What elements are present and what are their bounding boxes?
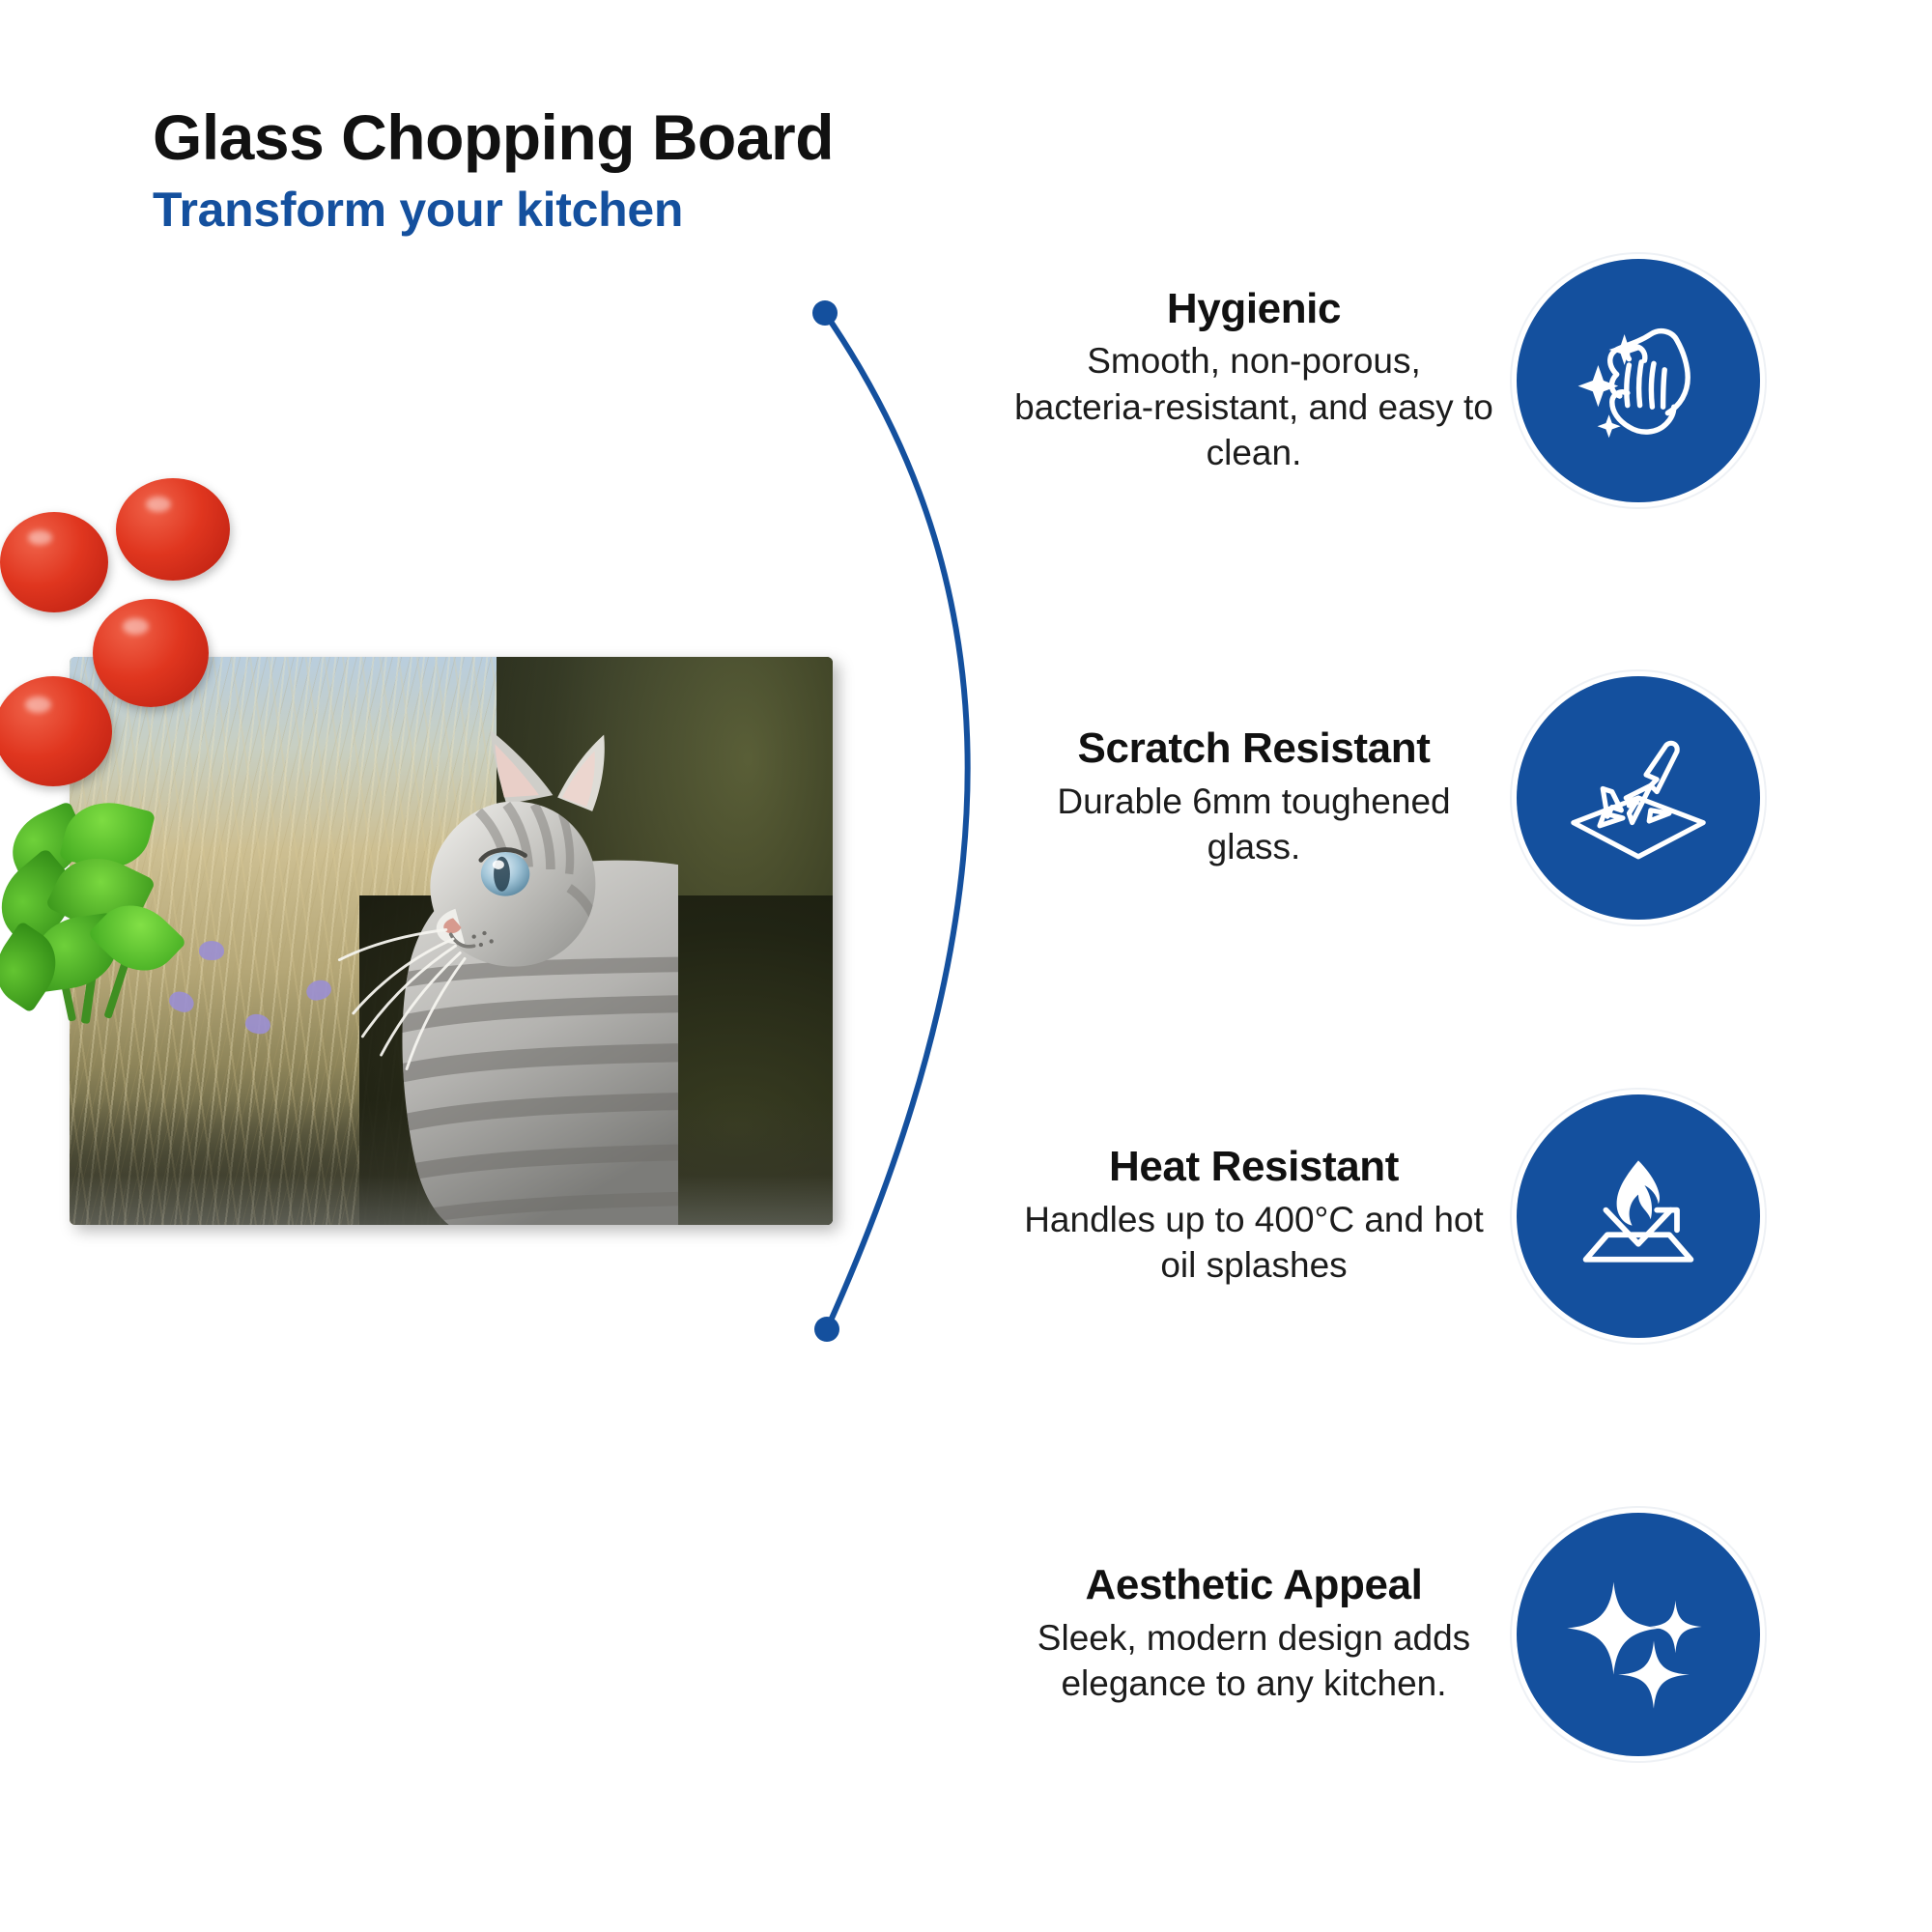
feature-heat-resistant: Heat Resistant Handles up to 400°C and h… (1014, 1094, 1855, 1338)
parsley-bunch (0, 802, 218, 1024)
infographic-canvas: Glass Chopping Board Transform your kitc… (0, 0, 1932, 1932)
cherry-tomato (93, 599, 209, 707)
feature-text: Hygienic Smooth, non-porous, bacteria-re… (1014, 286, 1517, 475)
feature-description: Durable 6mm toughened glass. (1014, 779, 1493, 870)
cherry-tomato (116, 478, 230, 581)
feature-title: Heat Resistant (1014, 1144, 1493, 1190)
page-title: Glass Chopping Board (153, 104, 834, 171)
feature-hygienic: Hygienic Smooth, non-porous, bacteria-re… (1014, 259, 1855, 502)
hand-wipe-sparkle-icon (1517, 259, 1760, 502)
header: Glass Chopping Board Transform your kitc… (153, 104, 834, 236)
connector-dot-bottom (814, 1317, 839, 1342)
cat-illustration (268, 691, 741, 1225)
feature-text: Aesthetic Appeal Sleek, modern design ad… (1014, 1562, 1517, 1706)
feature-text: Heat Resistant Handles up to 400°C and h… (1014, 1144, 1517, 1288)
feature-text: Scratch Resistant Durable 6mm toughened … (1014, 725, 1517, 869)
cherry-tomato (0, 512, 108, 612)
feature-title: Aesthetic Appeal (1014, 1562, 1493, 1608)
sparkles-icon (1517, 1513, 1760, 1756)
knife-impact-surface-icon (1517, 676, 1760, 920)
feature-description: Smooth, non-porous, bacteria-resistant, … (1014, 338, 1493, 475)
page-subtitle: Transform your kitchen (153, 185, 834, 236)
feature-title: Scratch Resistant (1014, 725, 1493, 772)
feature-description: Handles up to 400°C and hot oil splashes (1014, 1197, 1493, 1289)
feature-description: Sleek, modern design adds elegance to an… (1014, 1615, 1493, 1707)
feature-scratch-resistant: Scratch Resistant Durable 6mm toughened … (1014, 676, 1855, 920)
flame-deflect-surface-icon (1517, 1094, 1760, 1338)
feature-aesthetic-appeal: Aesthetic Appeal Sleek, modern design ad… (1014, 1513, 1855, 1756)
product-image (70, 657, 833, 1236)
connector-dot-top (812, 300, 838, 326)
feature-title: Hygienic (1014, 286, 1493, 332)
